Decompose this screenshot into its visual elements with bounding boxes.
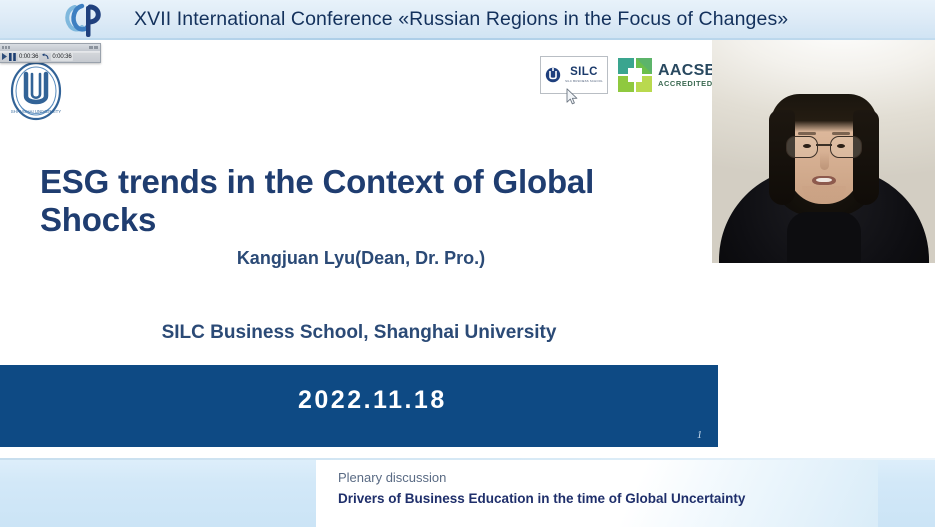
slide-date-banner: 2022.11.18 1 <box>0 365 718 447</box>
elapsed-time: 0:00:36 <box>18 53 39 61</box>
session-type-label: Plenary discussion <box>338 470 446 485</box>
svg-text:SHANGHAI UNIVERSITY: SHANGHAI UNIVERSITY <box>11 109 62 114</box>
aacsb-mark-icon <box>618 58 652 92</box>
close-icon[interactable] <box>94 46 98 49</box>
media-grip-icon <box>2 46 10 49</box>
total-time: 0:00:36 <box>51 53 72 61</box>
webcam-eye-left <box>803 144 811 148</box>
webcam-video-tile[interactable] <box>712 40 935 263</box>
webcam-eye-right <box>837 144 845 148</box>
glasses-lens-right <box>830 136 862 158</box>
silc-subtext: SILC BUSINESS SCHOOL <box>565 80 603 83</box>
play-icon[interactable] <box>2 53 7 60</box>
webcam-eyebrow-left <box>798 132 816 135</box>
slide-author: Kangjuan Lyu(Dean, Dr. Pro.) <box>0 248 722 269</box>
mouse-pointer-icon <box>566 88 579 105</box>
webcam-eyebrow-right <box>832 132 850 135</box>
slide-title: ESG trends in the Context of Global Shoc… <box>40 163 700 239</box>
media-controls-row[interactable]: 0:00:36 0:00:36 <box>0 51 100 62</box>
webcam-mouth <box>812 176 836 185</box>
webcam-nose <box>820 152 829 170</box>
slide-school: SILC Business School, Shanghai Universit… <box>0 322 718 344</box>
media-player-toolbar[interactable]: 0:00:36 0:00:36 <box>0 43 101 63</box>
rewind-icon[interactable] <box>41 53 49 61</box>
aacsb-name: AACSB <box>658 63 716 79</box>
session-title-label: Drivers of Business Education in the tim… <box>338 491 745 506</box>
shanghai-university-emblem-icon: SHANGHAI UNIVERSITY <box>6 60 66 122</box>
webcam-collar <box>787 212 861 262</box>
conference-title: XVII International Conference «Russian R… <box>134 8 788 31</box>
conference-header-bar: XVII International Conference «Russian R… <box>0 0 935 40</box>
glasses-lens-left <box>786 136 818 158</box>
media-window-buttons[interactable] <box>89 46 98 49</box>
media-player-titlebar[interactable] <box>0 44 100 51</box>
minimize-icon[interactable] <box>89 46 93 49</box>
conference-emblem-icon <box>62 3 108 39</box>
pause-icon[interactable] <box>9 53 16 61</box>
slide-date: 2022.11.18 <box>298 386 447 415</box>
silc-emblem-icon <box>545 66 561 84</box>
silc-name: SILC <box>570 67 598 79</box>
slide-number: 1 <box>697 430 702 441</box>
glasses-bridge <box>816 144 832 146</box>
aacsb-wordmark: AACSB ACCREDITED <box>658 63 716 88</box>
webcam-teeth <box>816 178 832 182</box>
aacsb-logo[interactable]: AACSB ACCREDITED <box>618 58 716 92</box>
silc-wordmark: SILC SILC BUSINESS SCHOOL <box>565 67 603 82</box>
screen-root: XVII International Conference «Russian R… <box>0 0 935 527</box>
aacsb-subtext: ACCREDITED <box>658 80 716 88</box>
